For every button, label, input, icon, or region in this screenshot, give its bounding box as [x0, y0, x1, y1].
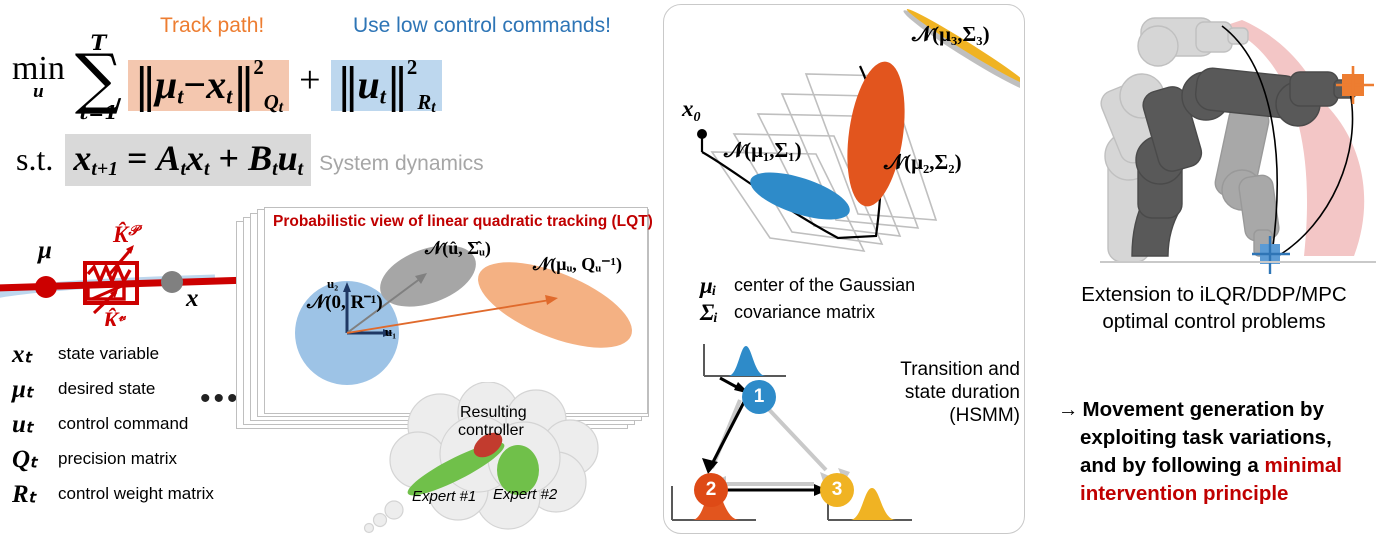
expert1-label: Expert #1 [412, 488, 476, 505]
gaussian-3-ellipse [900, 6, 1020, 97]
subject-to-label: s.t. [16, 141, 53, 178]
system-dynamics-caption: System dynamics [319, 152, 484, 176]
spring-damper-diagram: μ x K̂𝒫 K̂𝓋 [0, 206, 250, 326]
gain-v-label: K̂𝓋 [102, 307, 126, 326]
x0-label: x0 [681, 96, 701, 125]
legend-item: xₜ state variable [12, 336, 252, 371]
constraint-row: s.t. xt+1 = Atxt + Btut System dynamics [16, 134, 484, 186]
gaussian-3-label: 𝒩(μ₃,Σ₃) [912, 22, 990, 47]
legend-symbol: uₜ [12, 409, 58, 439]
legend-symbol: Σᵢ [700, 300, 734, 326]
objective-equation: min u T ∑ t=1 ‖μt−xt‖2Qt + ‖ut‖2Rt [12, 34, 442, 125]
plus-operator: + [299, 58, 320, 102]
extension-caption: Extension to iLQR/DDP/MPC optimal contro… [1040, 282, 1388, 335]
resulting-controller-line1: Resulting [460, 404, 527, 422]
legend-text: state variable [58, 344, 159, 364]
conclusion-line1: →Movement generation by [1058, 396, 1388, 424]
robot-arm-illustration [1046, 4, 1386, 284]
objective-block: Track path! Use low control commands! mi… [8, 8, 658, 203]
conclusion-text-2: exploiting task variations, [1080, 426, 1332, 449]
tracking-target-label: 𝒩(μᵤ, Qᵤ⁻¹) [533, 254, 622, 275]
legend-symbol: xₜ [12, 339, 58, 369]
conclusion-line2: exploiting task variations, [1058, 424, 1388, 452]
legend-text: control weight matrix [58, 484, 214, 504]
legend-item: Rₜ control weight matrix [12, 476, 252, 511]
legend-item: Qₜ precision matrix [12, 441, 252, 476]
hsmm-caption-line1: Transition and [886, 358, 1020, 381]
legend-text: desired state [58, 379, 155, 399]
hsmm-state-2[interactable]: 2 [694, 473, 728, 507]
legend-text: covariance matrix [734, 302, 875, 323]
highlight-text-1: minimal [1265, 454, 1342, 477]
legend-text: center of the Gaussian [734, 275, 915, 296]
conclusion-text-1: Movement generation by [1083, 398, 1325, 421]
legend-symbol: Rₜ [12, 479, 58, 509]
hsmm-caption-line3: (HSMM) [886, 404, 1020, 427]
ellipsis-indicator: ••• [200, 384, 241, 414]
system-dynamics-equation: xt+1 = Atxt + Btut [65, 134, 311, 186]
gaussian-legend-item: μᵢ center of the Gaussian [700, 272, 1000, 299]
highlight-text-2: intervention principle [1080, 482, 1288, 505]
expert2-label: Expert #2 [493, 486, 557, 503]
extension-caption-line1: Extension to iLQR/DDP/MPC [1040, 282, 1388, 309]
gaussian-legend-item: Σᵢ covariance matrix [700, 299, 1000, 326]
hsmm-caption: Transition and state duration (HSMM) [886, 358, 1020, 428]
transition-1-to-2 [712, 402, 744, 464]
gain-p-label: K̂𝒫 [112, 221, 142, 247]
gray-transitions [712, 400, 826, 484]
mu-label: μ [36, 237, 52, 264]
conclusion-line3: and by following a minimal [1058, 452, 1388, 480]
conclusion-line4: intervention principle [1058, 480, 1388, 508]
gaussian-legend: μᵢ center of the Gaussian Σᵢ covariance … [700, 272, 1000, 326]
conclusion-caption: →Movement generation by exploiting task … [1058, 396, 1388, 508]
tracking-term-wrap: ‖μt−xt‖2Qt [128, 56, 289, 117]
gaussian-2-ellipse [839, 58, 913, 210]
variable-legend: xₜ state variable μₜ desired state uₜ co… [12, 336, 252, 511]
gaussian-1-ellipse [745, 163, 855, 229]
legend-text: precision matrix [58, 449, 177, 469]
mu-node [35, 276, 57, 298]
resulting-control-label: 𝒩(û, Σ̂ᵤ) [425, 238, 491, 259]
resulting-controller-line2: controller [458, 422, 524, 440]
axis-u1-label: u₁ [385, 324, 396, 340]
control-term-wrap: ‖ut‖2Rt [331, 56, 442, 117]
legend-symbol: Qₜ [12, 444, 58, 474]
legend-symbol: μₜ [12, 374, 58, 404]
gaussian-2-label: 𝒩(μ₂,Σ₂) [884, 150, 962, 175]
duration-plot-state1 [704, 344, 786, 376]
sum-lower-limit: t=1 [75, 104, 122, 123]
summation-operator: T ∑ t=1 [75, 32, 122, 123]
conclusion-text-3: and by following a [1080, 454, 1265, 477]
thought-bubble: Resulting controller Expert #1 Expert #2 [348, 382, 648, 534]
min-variable: u [12, 82, 65, 101]
start-point [697, 129, 707, 139]
legend-symbol: μᵢ [700, 273, 734, 299]
hsmm-caption-line2: state duration [886, 381, 1020, 404]
x-label: x [185, 285, 199, 312]
figure-root: Track path! Use low control commands! mi… [0, 0, 1400, 537]
legend-text: control command [58, 414, 188, 434]
tracking-term: ‖μt−xt‖2Qt [128, 60, 289, 111]
sum-upper-limit: T [75, 32, 122, 53]
hsmm-state-3[interactable]: 3 [820, 473, 854, 507]
arrow-icon: → [1058, 398, 1079, 421]
min-operator: min u [12, 52, 65, 101]
x-node [161, 271, 183, 293]
control-prior-label: 𝒩(0, R⁻¹) [307, 292, 383, 314]
robot-pose-mid [1213, 103, 1280, 256]
hsmm-state-1[interactable]: 1 [742, 380, 776, 414]
hsmm-diagram: 1 2 3 Transition and state duration (HSM… [668, 330, 1020, 530]
extension-caption-line2: optimal control problems [1040, 309, 1388, 336]
axis-u2-label: u₂ [327, 276, 338, 292]
gaussian-1-label: 𝒩(μ₁,Σ₁) [724, 138, 802, 163]
control-term: ‖ut‖2Rt [331, 60, 442, 111]
